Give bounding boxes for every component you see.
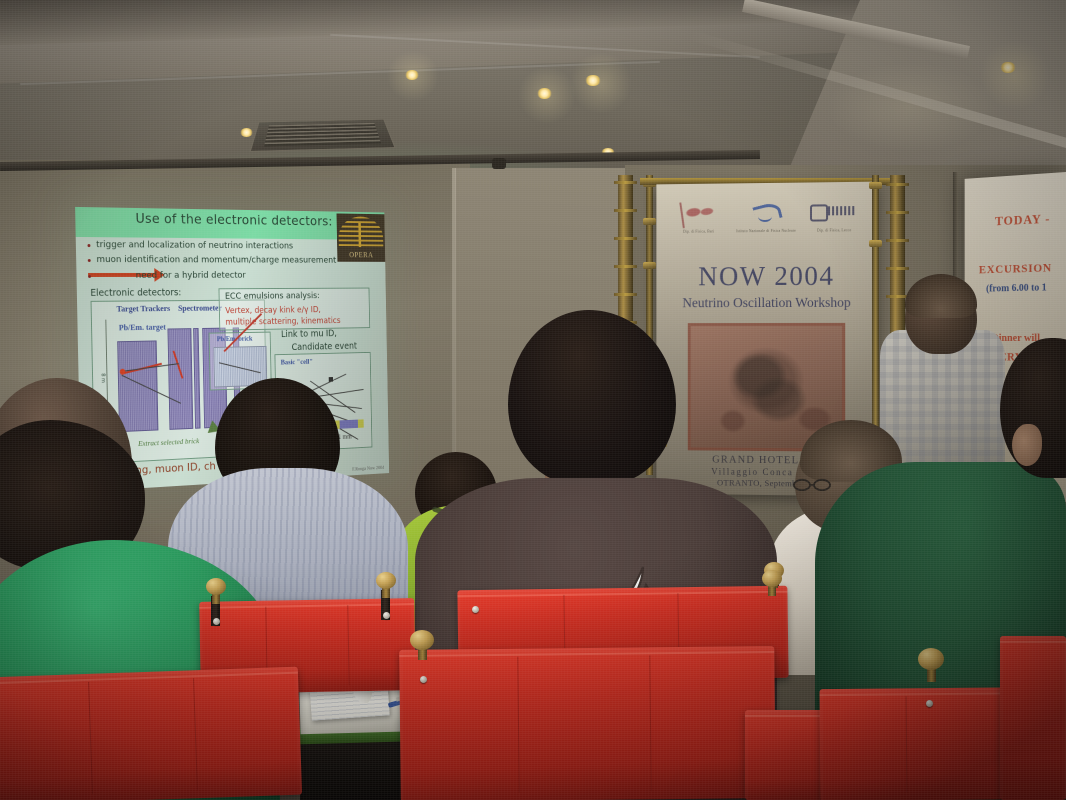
- red-canvas-director-chair[interactable]: [0, 667, 302, 800]
- chair-rivet: [420, 676, 427, 683]
- downlight-icon: [537, 88, 552, 99]
- opera-logo-text: OPERA: [337, 251, 385, 260]
- downlight-icon: [585, 75, 601, 86]
- lead-plate: [340, 420, 358, 429]
- lighting-truss-right: [890, 175, 905, 335]
- chair-finial: [410, 630, 434, 658]
- label-scale: 1 mm: [338, 433, 352, 441]
- link-label-line1: Link to mu ID,: [281, 329, 337, 340]
- label-pb-em-target: Pb/Em. target: [119, 323, 166, 333]
- opera-stem-graphic: [358, 223, 361, 247]
- truss-clamp: [643, 218, 656, 225]
- bullet-marker: [88, 259, 91, 262]
- projector-mount: [492, 158, 506, 169]
- slide-section-label-right: ECC emulsions analysis:: [225, 292, 320, 302]
- red-canvas-director-chair[interactable]: [1000, 636, 1066, 800]
- downlight-icon: [1000, 62, 1016, 73]
- slide-bullet: need for a hybrid detector: [136, 270, 246, 281]
- red-canvas-director-chair[interactable]: [399, 646, 776, 800]
- event-marker: [329, 377, 333, 382]
- truss-clamp: [869, 240, 882, 247]
- label-basic-cell: Basic "cell": [281, 357, 313, 366]
- chair-rivet: [926, 700, 933, 707]
- truss-clamp: [869, 182, 882, 189]
- ecc-line: Vertex, decay kink e/γ ID,: [225, 306, 321, 317]
- label-extract-brick: Extract selected brick: [138, 436, 199, 448]
- chair-finial: [376, 572, 396, 596]
- chair-finial: [918, 648, 944, 680]
- label-spectrometer: Spectrometer: [178, 304, 222, 313]
- chair-rivet: [213, 618, 220, 625]
- chair-rivet: [472, 606, 479, 613]
- downlight-glow: [980, 40, 1050, 110]
- downlight-icon: [240, 128, 253, 137]
- vent-grille: [264, 123, 382, 147]
- slide-bullet: muon identification and momentum/charge …: [96, 254, 336, 265]
- ear: [1012, 424, 1042, 466]
- downlight-glow: [570, 52, 632, 114]
- slide-footer: F.Ronga Now 2004: [352, 466, 384, 472]
- downlight-icon: [405, 70, 419, 80]
- chair-finial: [762, 570, 782, 594]
- slide-section-label-left: Electronic detectors:: [90, 288, 181, 299]
- label-target-trackers: Target Trackers: [116, 304, 170, 313]
- target-tracker-block: [117, 340, 158, 432]
- spectrometer-block-1: [167, 328, 193, 430]
- spectrometer-coil: [193, 328, 200, 429]
- bullet-marker: [88, 275, 91, 278]
- slide-bullet: trigger and localization of neutrino int…: [96, 239, 293, 251]
- bullet-marker: [87, 244, 90, 247]
- ceiling-air-vent: [250, 119, 396, 152]
- opera-logo: OPERA: [337, 213, 386, 261]
- chair-rivet: [383, 612, 390, 619]
- diagram-axis-tick: 8 m: [100, 373, 106, 383]
- emulsion-layer: [358, 419, 364, 428]
- chair-finial: [206, 578, 226, 602]
- link-label-line2: Candidate event: [292, 341, 358, 353]
- conference-room-photo: Use of the electronic detectors: OPERA t…: [0, 0, 1066, 800]
- ecc-line: multiple scattering, kinematics: [225, 316, 340, 327]
- truss-clamp: [643, 262, 656, 269]
- ecc-analysis-panel: ECC emulsions analysis: Vertex, decay ki…: [219, 288, 371, 331]
- eyeglasses-icon: [793, 478, 831, 491]
